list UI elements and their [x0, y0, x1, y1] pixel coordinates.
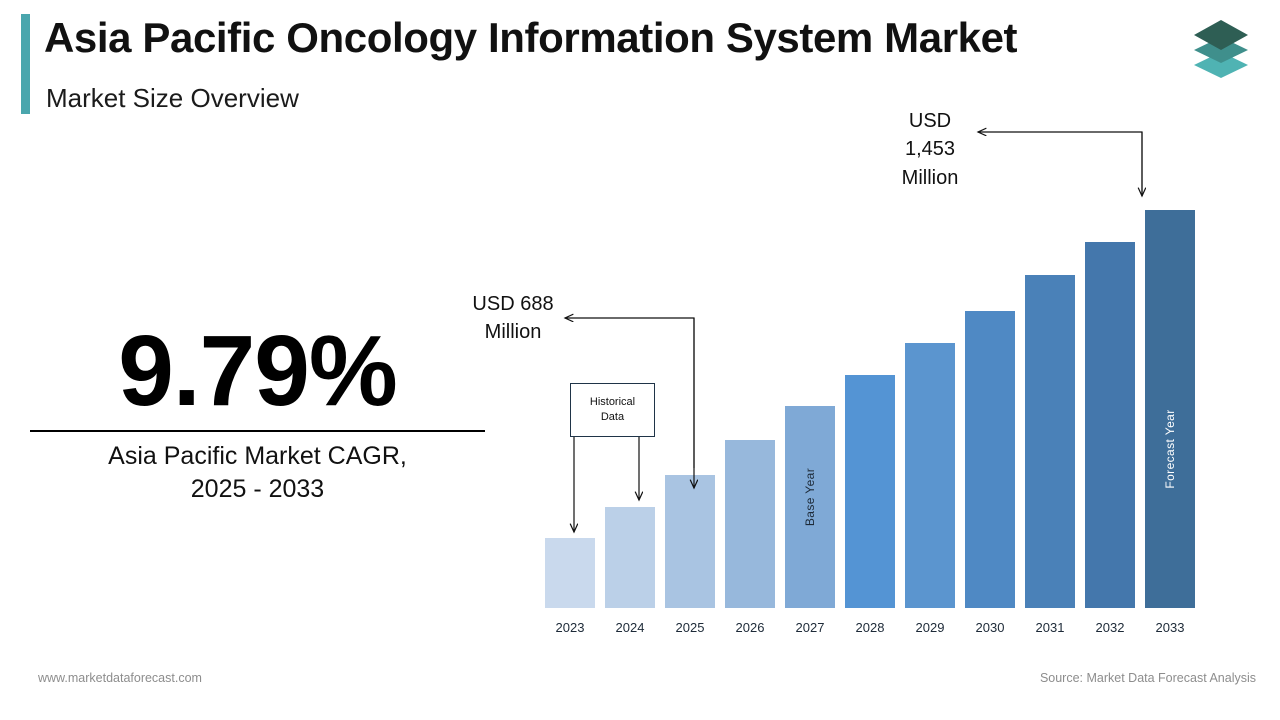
x-label-2032: 2032 [1085, 620, 1135, 635]
x-label-2033: 2033 [1145, 620, 1195, 635]
footer-website-url[interactable]: www.marketdataforecast.com [38, 671, 202, 685]
cagr-value: 9.79% [30, 318, 485, 424]
footer-source-note: Source: Market Data Forecast Analysis [1040, 671, 1256, 685]
stacked-layers-logo [1186, 14, 1256, 82]
bar-2025 [665, 475, 715, 608]
x-label-2025: 2025 [665, 620, 715, 635]
cagr-caption-line1: Asia Pacific Market CAGR, [30, 440, 485, 473]
arrow-start-value-horizontal [565, 318, 694, 468]
bar-2030 [965, 311, 1015, 608]
end-value-line2: 1,453 [874, 135, 986, 163]
page-subtitle: Market Size Overview [46, 83, 299, 114]
page-header: Asia Pacific Oncology Information System… [0, 0, 1280, 130]
historical-data-line1: Historical [590, 395, 635, 410]
bar-2033: Forecast Year [1145, 210, 1195, 608]
x-label-2027: 2027 [785, 620, 835, 635]
x-label-2031: 2031 [1025, 620, 1075, 635]
cagr-divider [30, 430, 485, 432]
cagr-caption: Asia Pacific Market CAGR, 2025 - 2033 [30, 440, 485, 505]
arrow-end-value-horizontal [978, 132, 1142, 196]
start-value-line1: USD 688 [453, 290, 573, 318]
bar-2023 [545, 538, 595, 608]
bar-2026 [725, 440, 775, 608]
page-title: Asia Pacific Oncology Information System… [44, 14, 1017, 62]
header-accent-bar [21, 14, 30, 114]
bar-2027: Base Year [785, 406, 835, 608]
x-label-2023: 2023 [545, 620, 595, 635]
forecast-year-label: Forecast Year [1163, 409, 1177, 488]
x-label-2026: 2026 [725, 620, 775, 635]
x-label-2024: 2024 [605, 620, 655, 635]
bar-2032 [1085, 242, 1135, 608]
x-label-2030: 2030 [965, 620, 1015, 635]
end-value-line3: Million [874, 164, 986, 192]
logo-icon [1186, 14, 1256, 82]
cagr-block: 9.79% Asia Pacific Market CAGR, 2025 - 2… [30, 318, 485, 505]
base-year-label: Base Year [803, 468, 817, 526]
historical-data-box: Historical Data [570, 383, 655, 437]
bar-2028 [845, 375, 895, 608]
bar-2029 [905, 343, 955, 608]
cagr-caption-line2: 2025 - 2033 [30, 473, 485, 506]
bar-2031 [1025, 275, 1075, 608]
historical-data-line2: Data [590, 410, 635, 425]
bar-2024 [605, 507, 655, 608]
x-label-2029: 2029 [905, 620, 955, 635]
x-label-2028: 2028 [845, 620, 895, 635]
